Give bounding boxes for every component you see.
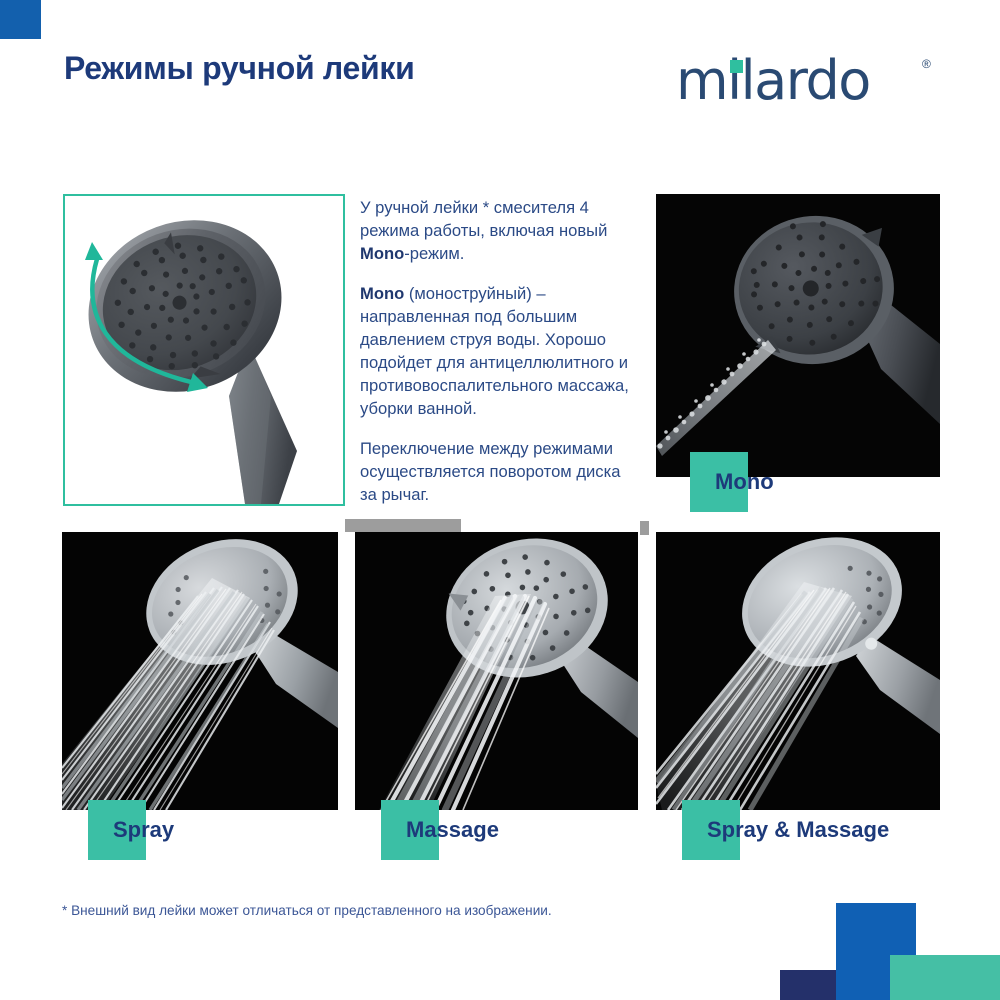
logo-i-dot-icon (730, 60, 743, 73)
desc-p1-bold: Mono (360, 244, 404, 263)
description-paragraph-1: У ручной лейки * смесителя 4 режима рабо… (360, 196, 640, 265)
photo-panel-spray-massage (656, 532, 940, 810)
grey-accent-chip (640, 521, 649, 535)
desc-p1-after: -режим. (404, 244, 464, 263)
description-paragraph-3: Переключение между режимами осуществляет… (360, 437, 640, 506)
rotation-arrow-head-up (85, 242, 103, 260)
mode-label-spray-massage: Spray & Massage (682, 800, 740, 860)
spray-massage-mode-photo (656, 532, 940, 810)
mode-label-spray-text: Spray (113, 817, 174, 843)
registered-trademark-icon: ® (922, 57, 931, 71)
description-text: У ручной лейки * смесителя 4 режима рабо… (360, 196, 640, 506)
photo-panel-spray (62, 532, 338, 810)
hero-showerhead-frame (63, 194, 345, 506)
mono-mode-photo (656, 194, 940, 477)
photo-panel-mono (656, 194, 940, 477)
logo-wordmark: milardo (676, 52, 870, 110)
showerhead-rotation-illustration (65, 196, 343, 504)
mode-label-massage-text: Massage (406, 817, 499, 843)
desc-p2-after: (моноструйный) – направленная под больши… (360, 284, 629, 418)
desc-p1-before: У ручной лейки * смесителя 4 режима рабо… (360, 198, 607, 240)
decorative-square-teal (890, 955, 1000, 1000)
poster-page: Режимы ручной лейки milardo ® (0, 0, 1000, 1000)
photo-panel-massage (355, 532, 638, 810)
mode-label-spray: Spray (88, 800, 146, 860)
mode-label-mono-text: Mono (715, 469, 774, 495)
milardo-logo: milardo ® (676, 52, 936, 114)
corner-accent-square-top-left (0, 0, 41, 39)
mode-label-massage: Massage (381, 800, 439, 860)
mode-label-spray-massage-text: Spray & Massage (707, 817, 889, 843)
footnote-text: * Внешний вид лейки может отличаться от … (62, 903, 552, 918)
grey-accent-bar (345, 519, 461, 532)
mode-label-mono: Mono (690, 452, 748, 512)
desc-p2-bold: Mono (360, 284, 404, 303)
spray-mode-photo (62, 532, 338, 810)
page-title: Режимы ручной лейки (64, 50, 414, 87)
massage-mode-photo (355, 532, 638, 810)
description-paragraph-2: Mono (моноструйный) – направленная под б… (360, 282, 640, 420)
